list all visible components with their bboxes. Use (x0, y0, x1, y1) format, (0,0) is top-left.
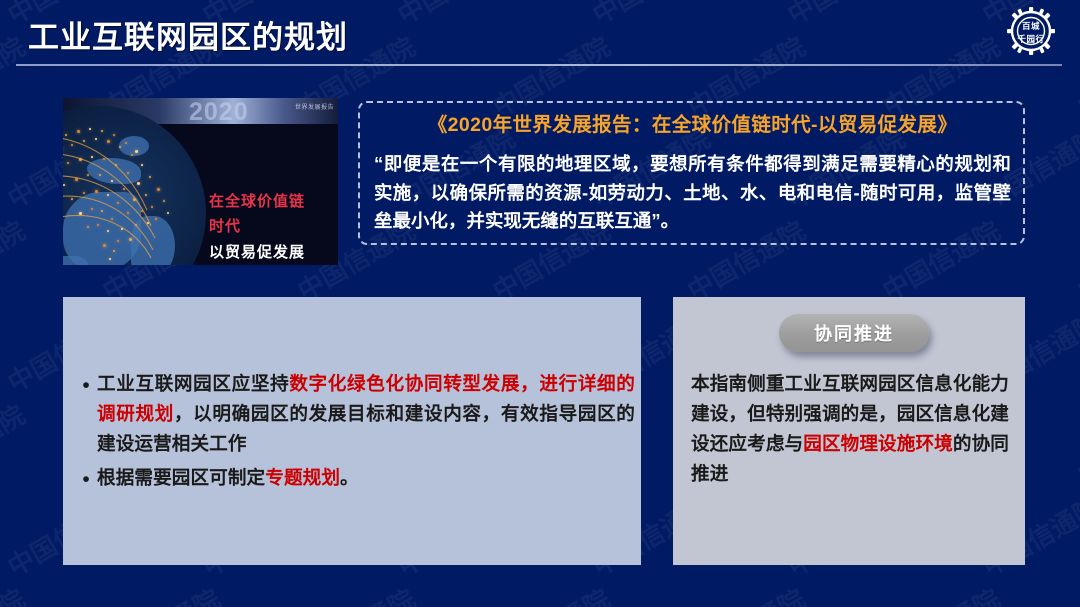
watermark-text: 中国信通院 (1070, 579, 1080, 607)
page-title: 工业互联网园区的规划 (28, 12, 348, 57)
bullet-item: •工业互联网园区应坚持数字化绿色化协同转型发展，进行详细的调研规划，以明确园区的… (75, 369, 635, 459)
bullet-item: •根据需要园区可制定专题规划。 (75, 463, 635, 497)
network-nodes (63, 106, 206, 265)
slide-root: 中国信通院中国信通院中国信通院中国信通院中国信通院中国信通院中国信通院中国信通院… (0, 0, 1080, 607)
body-text: 根据需要园区可制定 (97, 467, 265, 488)
body-text: 工业互联网园区应坚持 (97, 373, 289, 394)
bullet-text: 工业互联网园区应坚持数字化绿色化协同转型发展，进行详细的调研规划，以明确园区的发… (97, 369, 635, 459)
thumbnail-red-line-2: 时代 (209, 215, 241, 236)
thumbnail-white-line: 以贸易促发展 (209, 241, 305, 262)
watermark-text: 中国信通院 (95, 579, 226, 607)
highlighted-text: 园区物理设施环境 (803, 433, 953, 454)
quote-title: 《2020年世界发展报告：在全球价值链时代-以贸易促发展》 (374, 113, 1011, 137)
quote-box: 《2020年世界发展报告：在全球价值链时代-以贸易促发展》 “即便是在一个有限的… (358, 101, 1025, 245)
card-overall-planning: •工业互联网园区应坚持数字化绿色化协同转型发展，进行详细的调研规划，以明确园区的… (63, 297, 641, 565)
watermark-text: 中国信通院 (290, 579, 421, 607)
logo-text-line1: 百城 (1022, 20, 1040, 32)
bullet-text: 根据需要园区可制定专题规划。 (97, 463, 635, 497)
badge-collaborative-advancement[interactable]: 协同推进 (779, 314, 929, 352)
quote-body: “即便是在一个有限的地理区域，要想所有条件都得到满足需要精心的规划和实施，以确保… (374, 150, 1011, 236)
watermark-text: 中国信通院 (680, 579, 811, 607)
left-card-bullets: •工业互联网园区应坚持数字化绿色化协同转型发展，进行详细的调研规划，以明确园区的… (75, 369, 635, 501)
thumbnail-corner-text: 世界发展报告 (295, 102, 334, 111)
right-card-body: 本指南侧重工业互联网园区信息化能力建设，但特别强调的是，园区信息化建设还应考虑与… (691, 369, 1009, 489)
watermark-text: 中国信通院 (485, 579, 616, 607)
watermark-text: 中国信通院 (0, 395, 31, 492)
watermark-text: 中国信通院 (0, 211, 31, 308)
header-divider (16, 64, 1062, 66)
brand-logo: 百城 千园行 (1002, 4, 1060, 60)
logo-text-line2: 千园行 (1017, 33, 1044, 45)
body-text: 。 (340, 467, 359, 488)
card-collaborative-advancement: 协同推进 本指南侧重工业互联网园区信息化能力建设，但特别强调的是，园区信息化建设… (673, 297, 1025, 565)
slide-header: 工业互联网园区的规划 (0, 0, 1080, 70)
logo-text: 百城 千园行 (1002, 4, 1060, 60)
watermark-text: 中国信通院 (1070, 211, 1080, 308)
highlighted-text: 专题规划 (265, 467, 340, 488)
watermark-text: 中国信通院 (875, 579, 1006, 607)
watermark-text: 中国信通院 (0, 579, 31, 607)
globe-graphic (63, 106, 206, 265)
report-cover-thumbnail: 2020 世界发展报告 在全球价值链 时代 以贸易促发展 (63, 98, 338, 265)
body-text: ，以明确园区的发展目标和建设内容，有效指导园区的建设运营相关工作 (97, 403, 635, 454)
watermark-text: 中国信通院 (1070, 395, 1080, 492)
bullet-marker: • (75, 369, 97, 459)
bullet-marker: • (75, 463, 97, 497)
thumbnail-red-line-1: 在全球价值链 (209, 190, 305, 211)
